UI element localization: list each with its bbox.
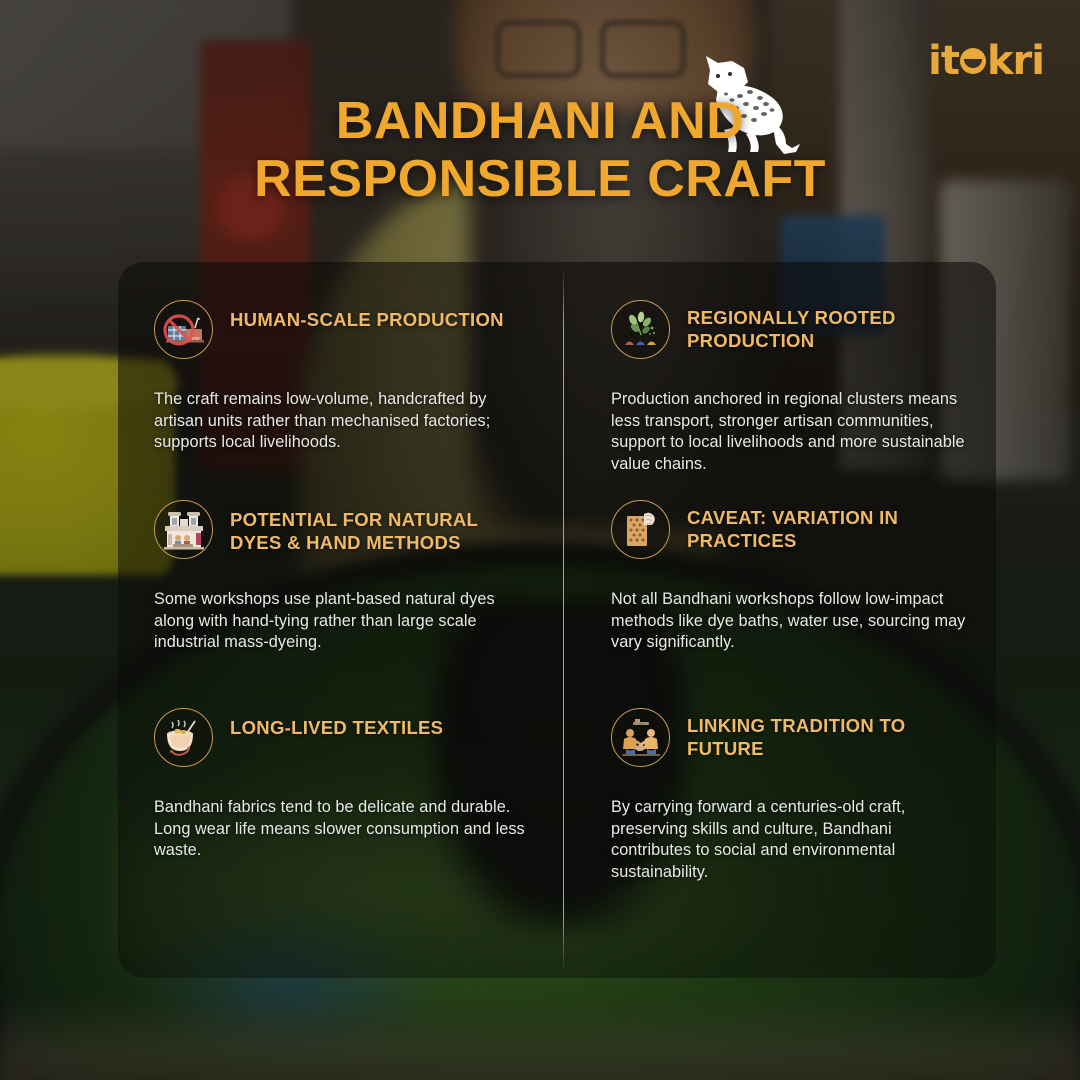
- page-title: BANDHANI AND RESPONSIBLE CRAFT: [0, 92, 1080, 208]
- card-title: CAVEAT: VARIATION IN PRACTICES: [687, 500, 974, 552]
- card-header: LONG-LIVED TEXTILES: [154, 708, 529, 767]
- card-potential-for-natural-dyes: POTENTIAL FOR NATURAL DYES & HAND METHOD…: [118, 462, 563, 670]
- no-factory-machine-icon: [154, 300, 213, 359]
- leaves-and-dye-powders-icon: [611, 300, 670, 359]
- card-body: Bandhani fabrics tend to be delicate and…: [154, 797, 529, 862]
- card-header: POTENTIAL FOR NATURAL DYES & HAND METHOD…: [154, 500, 529, 559]
- card-header: REGIONALLY ROOTED PRODUCTION: [611, 300, 974, 359]
- card-header: LINKING TRADITION TO FUTURE: [611, 708, 974, 767]
- logo-text-before: it: [928, 38, 959, 84]
- page-title-line-2: RESPONSIBLE CRAFT: [140, 150, 940, 208]
- card-regionally-rooted-production: REGIONALLY ROOTED PRODUCTION Production …: [563, 262, 996, 462]
- page-title-line-1: BANDHANI AND: [140, 92, 940, 150]
- card-body: Not all Bandhani workshops follow low-im…: [611, 589, 974, 654]
- cards-grid: HUMAN-SCALE PRODUCTION The craft remains…: [118, 262, 996, 978]
- card-body: Some workshops use plant-based natural d…: [154, 589, 529, 654]
- artisan-workshop-building-icon: [154, 500, 213, 559]
- card-body: The craft remains low-volume, handcrafte…: [154, 389, 529, 454]
- steaming-dye-pot-icon: [154, 708, 213, 767]
- hand-holding-bandhani-swatch-icon: [611, 500, 670, 559]
- card-human-scale-production: HUMAN-SCALE PRODUCTION The craft remains…: [118, 262, 563, 462]
- card-title: LONG-LIVED TEXTILES: [230, 708, 443, 740]
- card-header: CAVEAT: VARIATION IN PRACTICES: [611, 500, 974, 559]
- logo-text-after: kri: [987, 38, 1044, 84]
- logo-bowl-o-icon: [960, 48, 986, 74]
- infographic-canvas: it kri BANDHANI AND RESPONSIBLE CRAFT: [0, 0, 1080, 1080]
- card-linking-tradition-to-future: LINKING TRADITION TO FUTURE By carrying …: [563, 670, 996, 978]
- card-body: By carrying forward a centuries-old craf…: [611, 797, 974, 884]
- card-caveat-variation-in-practices: CAVEAT: VARIATION IN PRACTICES Not all B…: [563, 462, 996, 670]
- card-title: REGIONALLY ROOTED PRODUCTION: [687, 300, 974, 352]
- brand-logo[interactable]: it kri: [928, 38, 1044, 84]
- card-title: POTENTIAL FOR NATURAL DYES & HAND METHOD…: [230, 500, 529, 554]
- card-long-lived-textiles: LONG-LIVED TEXTILES Bandhani fabrics ten…: [118, 670, 563, 978]
- card-title: HUMAN-SCALE PRODUCTION: [230, 300, 504, 332]
- two-artisans-icon: [611, 708, 670, 767]
- card-header: HUMAN-SCALE PRODUCTION: [154, 300, 529, 359]
- card-title: LINKING TRADITION TO FUTURE: [687, 708, 974, 760]
